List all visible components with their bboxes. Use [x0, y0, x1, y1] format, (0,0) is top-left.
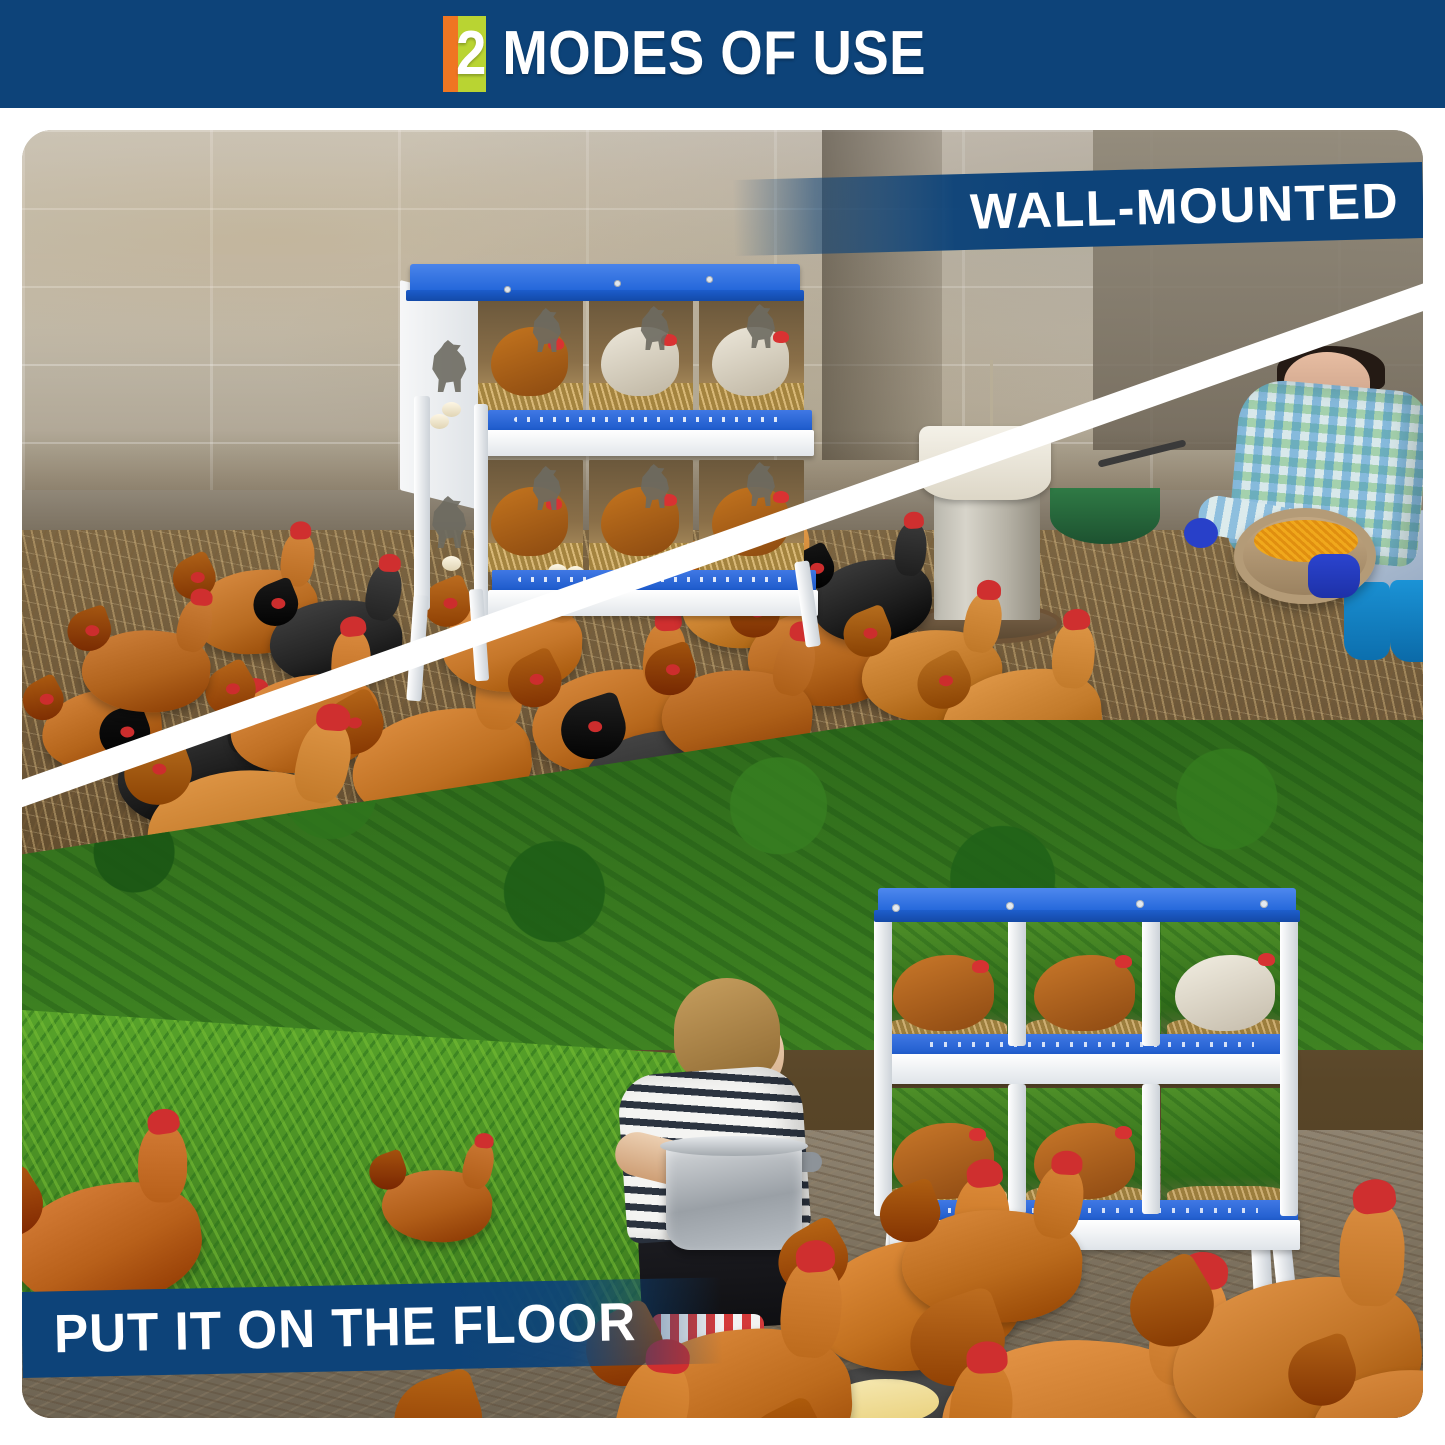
roof-screw [1006, 902, 1014, 910]
nesting-cell [478, 460, 583, 572]
landing-ledge-upper [488, 410, 812, 432]
wall-bracket [414, 396, 430, 610]
divider-post [1142, 916, 1160, 1046]
hen-comb [966, 1340, 1008, 1374]
front-apron-upper [484, 430, 814, 456]
egg-graphic [442, 556, 461, 571]
hen-comb [1258, 953, 1275, 966]
hen-comb [378, 553, 401, 572]
hen-comb [972, 960, 989, 973]
nesting-cell [1161, 920, 1294, 1046]
feeder-rope [990, 360, 993, 430]
nesting-box-side-panel [400, 280, 478, 509]
nesting-box-roof-edge [406, 290, 804, 301]
roof-screw [1136, 900, 1144, 908]
roof-screw [614, 280, 621, 287]
header-bar: 2 MODES OF USE [0, 0, 1445, 108]
hen-comb [773, 491, 789, 503]
roof-screw [892, 904, 900, 912]
divider-post [1142, 1084, 1160, 1214]
feed-pot [666, 1142, 802, 1250]
nesting-box-roof-edge [874, 910, 1300, 922]
header-inner: 2 MODES OF USE [443, 16, 990, 92]
page-title: 2 MODES OF USE [456, 23, 926, 85]
divider-post [1008, 916, 1026, 1046]
divider-post [1008, 1084, 1026, 1214]
egg-graphic [430, 414, 449, 429]
hen-comb [1115, 955, 1132, 968]
hen-in-cell [1175, 955, 1276, 1031]
hen-neck [137, 1123, 188, 1203]
banner-floor: PUT IT ON THE FLOOR [22, 1277, 723, 1378]
banner-wall-mounted-label: WALL-MOUNTED [969, 172, 1399, 241]
hen-comb [969, 1128, 986, 1141]
hen-comb [1051, 1150, 1083, 1175]
nesting-row-upper [880, 920, 1294, 1046]
roof-screw [706, 276, 713, 283]
front-rail-upper [886, 1054, 1296, 1084]
corner-post-right [1280, 916, 1298, 1216]
banner-floor-label: PUT IT ON THE FLOOR [53, 1291, 637, 1365]
hen-comb [795, 1239, 836, 1273]
nesting-cell [1161, 1088, 1294, 1214]
photo-canvas: WALL-MOUNTED [22, 130, 1423, 1418]
roof-screw [1260, 900, 1268, 908]
roof-screw [504, 286, 511, 293]
hen-comb [290, 521, 312, 539]
nesting-row-lower [880, 1088, 1294, 1214]
hen-comb [474, 1132, 494, 1148]
corner-post-left [874, 916, 892, 1216]
nesting-cell [1021, 920, 1154, 1046]
hen-comb [1115, 1126, 1132, 1139]
nesting-cell [589, 300, 694, 412]
feed-pot-rim [660, 1136, 808, 1156]
hen-neck [1338, 1199, 1407, 1307]
hen-comb [773, 331, 789, 343]
nesting-cell [478, 300, 583, 412]
nesting-cell [880, 920, 1013, 1046]
